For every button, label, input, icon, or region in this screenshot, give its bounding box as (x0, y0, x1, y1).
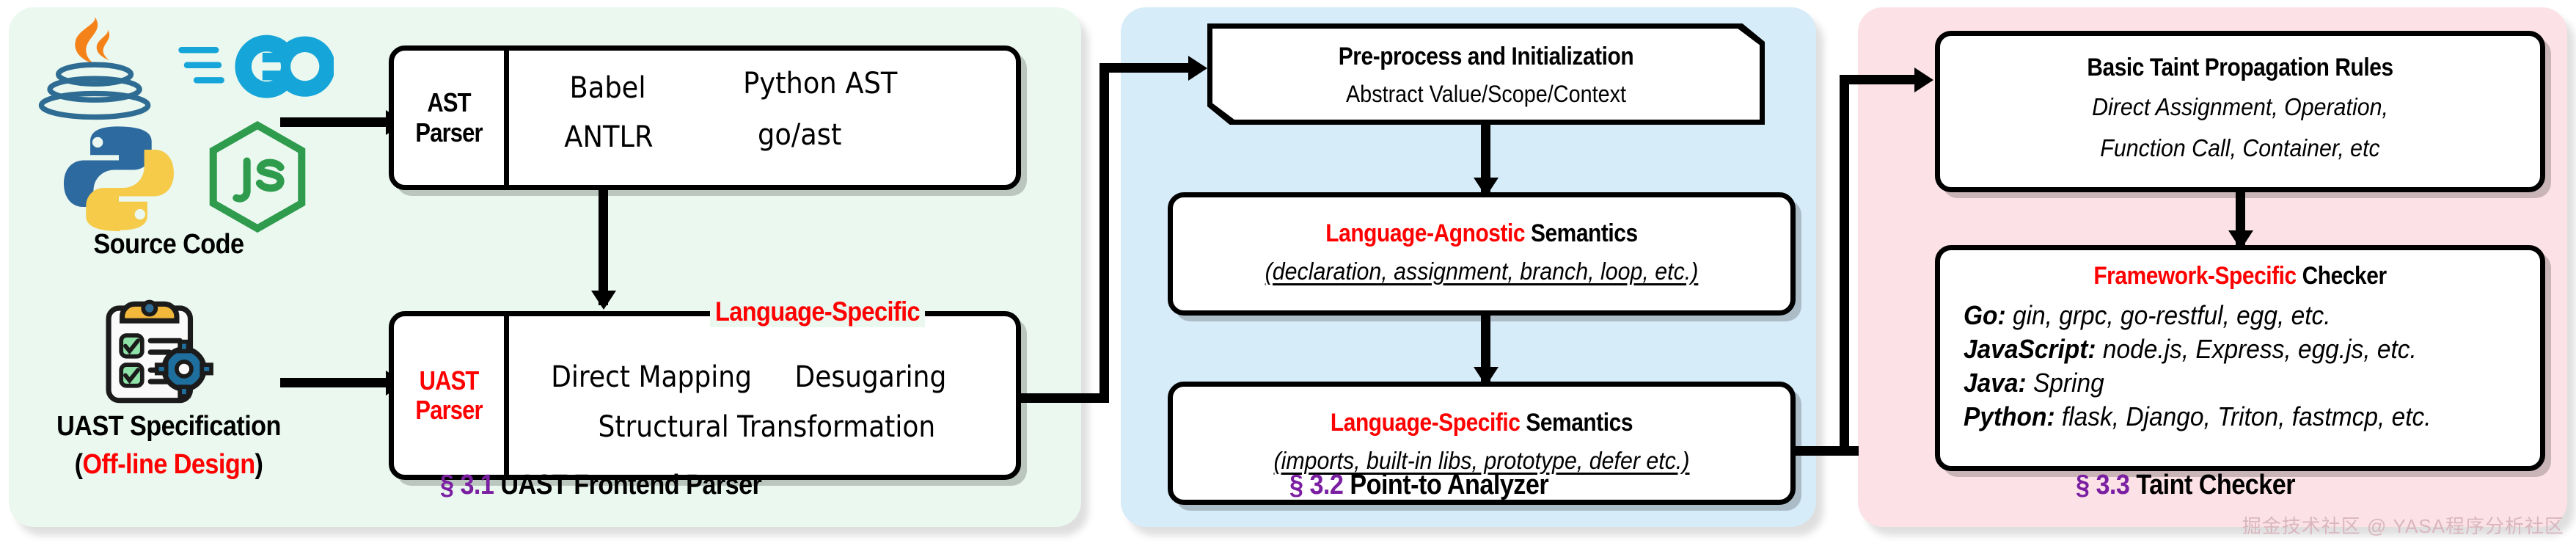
node-uast-parser[interactable]: UAST Parser Direct Mapping Desugaring St… (389, 311, 1021, 480)
nodejs-logo (202, 121, 312, 235)
connector-ast-to-uast-head (591, 291, 616, 310)
node-preprocess-outer[interactable]: Pre-process and Initialization Abstract … (1207, 23, 1765, 125)
framework-row-java: Java: Spring (1964, 368, 2486, 398)
framework-row-python: Python: flask, Django, Triton, fastmcp, … (1964, 401, 2486, 432)
preprocess-title: Pre-process and Initialization (1241, 43, 1732, 71)
tool-antlr: ANTLR (564, 120, 653, 154)
framework-specific-checker-title: Framework-Specific Checker (1976, 262, 2504, 291)
tool-python-ast: Python AST (743, 67, 897, 101)
arrow-source-to-ast (280, 117, 390, 127)
node-language-agnostic-semantics[interactable]: Language-Agnostic Semantics (declaration… (1168, 192, 1796, 316)
section-number-3-3: § 3.3 (2076, 470, 2129, 500)
caption-taint-checker: § 3.3 Taint Checker (2076, 470, 2295, 501)
connector-frontend-to-pointto-seg1 (1021, 393, 1109, 403)
basic-taint-rules-subtitle-1: Direct Assignment, Operation, (1964, 93, 2517, 121)
python-logo (60, 123, 178, 233)
java-logo (31, 10, 163, 128)
connector-pointto-to-taint-head (1914, 68, 1933, 92)
connector-pointto-to-taint-seg2 (1840, 75, 1849, 453)
ast-parser-tools-cell: Babel Python AST ANTLR go/ast (509, 51, 1016, 185)
uast-parser-label: UAST Parser (415, 366, 482, 426)
offline-design-text: Off-line Design (82, 449, 255, 480)
preprocess-subtitle: Abstract Value/Scope/Context (1235, 81, 1737, 108)
connector-frontend-to-pointto-seg2 (1099, 63, 1109, 398)
language-specific-title: Language-Specific Semantics (1210, 409, 1754, 437)
language-agnostic-title: Language-Agnostic Semantics (1210, 219, 1754, 248)
caption-point-to-analyzer: § 3.2 Point-to Analyzer (1289, 470, 1548, 501)
basic-taint-rules-subtitle-2: Function Call, Container, etc (1964, 134, 2517, 162)
watermark: 掘金技术社区 @ YASA程序分析社区 (2242, 511, 2564, 539)
source-code-label: Source Code (17, 229, 321, 260)
tool-babel: Babel (570, 71, 646, 105)
framework-row-go: Go: gin, grpc, go-restful, egg, etc. (1964, 300, 2486, 331)
framework-row-javascript-lang: JavaScript: (1964, 334, 2096, 364)
mapping-direct-mapping: Direct Mapping (551, 360, 752, 394)
node-framework-specific-checker[interactable]: Framework-Specific Checker Go: gin, grpc… (1935, 245, 2545, 471)
connector-pointto-to-taint-seg1 (1796, 446, 1859, 456)
go-logo (176, 22, 334, 114)
node-basic-taint-rules[interactable]: Basic Taint Propagation Rules Direct Ass… (1935, 31, 2545, 192)
arrow-spec-to-uast (280, 378, 390, 387)
section-number-3-1: § 3.1 (440, 470, 494, 500)
mapping-structural-transformation: Structural Transformation (599, 410, 936, 444)
ast-parser-label: AST Parser (415, 88, 482, 147)
diagram-canvas: Source Code UAST (0, 0, 2576, 543)
uast-specification-label: UAST Specification (17, 411, 321, 442)
framework-row-javascript: JavaScript: node.js, Express, egg.js, et… (1964, 334, 2486, 365)
tool-go-ast: go/ast (758, 118, 841, 152)
framework-row-go-list: gin, grpc, go-restful, egg, etc. (2013, 300, 2331, 330)
ast-parser-label-cell: AST Parser (394, 51, 509, 185)
section-number-3-2: § 3.2 (1289, 470, 1343, 500)
uast-parser-label-cell: UAST Parser (394, 316, 509, 475)
mapping-desugaring: Desugaring (794, 360, 946, 394)
framework-row-javascript-list: node.js, Express, egg.js, etc. (2103, 334, 2417, 364)
clipboard-checklist-gear-icon (97, 294, 225, 411)
uast-specification-sublabel: (Off-line Design) (17, 449, 321, 481)
caption-uast-frontend-parser: § 3.1 UAST Frontend Parser (440, 470, 761, 501)
framework-row-python-lang: Python: (1964, 401, 2055, 431)
node-ast-parser[interactable]: AST Parser Babel Python AST ANTLR go/ast (389, 45, 1021, 190)
basic-taint-rules-title: Basic Taint Propagation Rules (1976, 54, 2504, 82)
connector-ast-to-uast (599, 188, 608, 305)
framework-row-java-lang: Java: (1964, 368, 2027, 398)
framework-row-go-lang: Go: (1964, 300, 2006, 330)
language-specific-tag: Language-Specific (710, 296, 925, 327)
language-agnostic-subtitle: (declaration, assignment, branch, loop, … (1198, 258, 1766, 285)
framework-row-python-list: flask, Django, Triton, fastmcp, etc. (2062, 401, 2432, 431)
connector-frontend-to-pointto-head (1188, 56, 1207, 81)
connector-frontend-to-pointto-seg3 (1099, 63, 1193, 73)
uast-parser-mappings-cell: Direct Mapping Desugaring Structural Tra… (509, 316, 1016, 475)
connector-pointto-to-taint-seg3 (1840, 75, 1920, 84)
framework-row-java-list: Spring (2033, 368, 2104, 398)
